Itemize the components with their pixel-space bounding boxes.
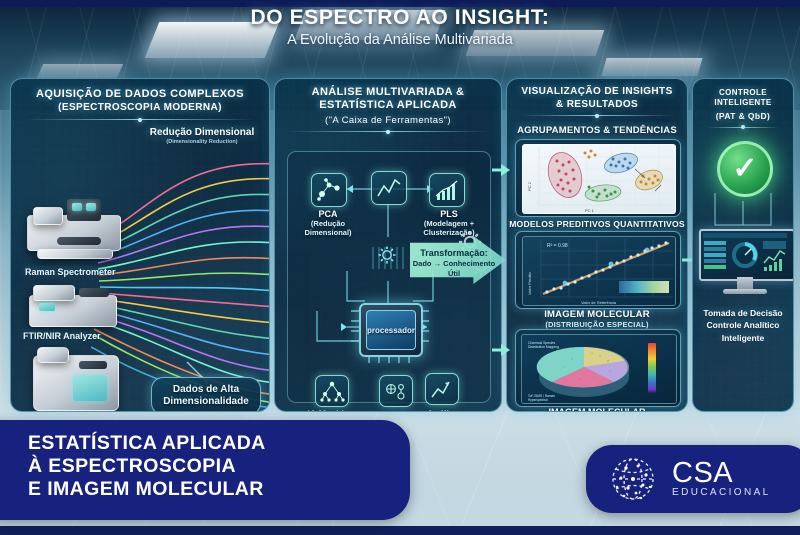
panel-viz-title-1: VISUALIZAÇÃO DE INSIGHTS (521, 86, 672, 97)
tool-sub2-pca: Dimensional) (289, 228, 367, 237)
viz-card-regression[interactable]: R² = 0.98 Valor de Referência Valor Pred… (515, 231, 681, 309)
control-monitor[interactable] (699, 229, 791, 295)
tool-card-ia-ml[interactable] (315, 375, 349, 407)
panel-acquisition-subtitle: (ESPECTROSCOPIA MODERNA) (11, 102, 269, 113)
cluster-xlabel: PC 1 (585, 208, 594, 213)
panel-divider (289, 131, 487, 132)
transform-line2: Dado → Conhecimento Útil (412, 259, 496, 278)
cluster-scatter-plot (523, 145, 675, 213)
bottom-accent-bar (0, 526, 800, 535)
tool-card-spectro[interactable] (425, 373, 459, 405)
viz-footer-caption: IMAGEM MOLECULAR (DISTRIBUIÇÃO ESPECIAL) (507, 407, 687, 412)
annotation-subtitle: (Dimensionality Reduction) (141, 139, 263, 145)
svg-text:Hyperspectral: Hyperspectral (528, 398, 548, 402)
panel-visualization-heading: VISUALIZAÇÃO DE INSIGHTS & RESULTADOS (507, 86, 687, 111)
trend-chart-icon (426, 374, 458, 404)
annotation-dim-reduction: Redução Dimensional (Dimensionality Redu… (141, 127, 263, 145)
neural-tree-icon (316, 376, 348, 406)
control-caption-2: Controle Analítico (693, 319, 793, 331)
viz-card-title-regression: MODELOS PREDITIVOS QUANTITATIVOS (507, 219, 687, 229)
tool-name-pca: PCA (318, 209, 337, 219)
instrument-label-raman: Raman Spectrometer (25, 267, 116, 277)
panel-acquisition-title: AQUISIÇÃO DE DADOS COMPLEXOS (36, 88, 244, 100)
title-block: DO ESPECTRO AO INSIGHT: A Evolução da An… (0, 6, 800, 48)
panel-viz-title-2: & RESULTADOS (556, 99, 638, 110)
panel-analysis-subtitle: ("A Caixa de Ferramentas") (275, 115, 501, 127)
gear-icon (377, 245, 397, 265)
tool-sub1-pls: (Modelagem + (407, 219, 491, 228)
bar-trend-icon (430, 174, 464, 206)
dashboard-graphic (701, 231, 789, 275)
svg-text:R² = 0.98: R² = 0.98 (547, 243, 568, 249)
logo-name: CSA (672, 460, 771, 488)
callout-text: Dados de Alta Dimensionalidade (152, 384, 260, 409)
molecular-heatmap: Chemical Species Distribution Mapping To… (522, 335, 676, 403)
tool-card-molecule[interactable] (379, 375, 413, 407)
tool-card-pls[interactable] (429, 173, 465, 207)
tool-label-ia-ml: IA Machine Learning (293, 409, 369, 412)
viz-card-title-molecular: IMAGEM MOLECULAR (DISTRIBUIÇÃO ESPECIAL) (507, 309, 687, 329)
panel-analysis-title-1: ANÁLISE MULTIVARIADA & (312, 86, 465, 98)
panel-control: CONTROLE INTELIGENTE (PAT & QbD) ✓ (692, 78, 794, 412)
tool-card-pca[interactable] (311, 173, 347, 207)
ribbon-line-1: ESTATÍSTICA APLICADA (28, 432, 398, 455)
brand-logo[interactable]: CSA EDUCACIONAL (586, 445, 800, 513)
panel-divider (521, 115, 673, 116)
scatter-network-icon (312, 174, 346, 206)
line-chart-icon (372, 172, 406, 204)
control-caption: Tomada de Decisão Controle Analítico Int… (693, 307, 793, 344)
panel-divider (25, 119, 255, 120)
logo-subtitle: EDUCACIONAL (672, 487, 771, 498)
tool-name-pls: PLS (440, 209, 458, 219)
panel-divider (707, 127, 779, 128)
panel-acquisition: AQUISIÇÃO DE DADOS COMPLEXOS (ESPECTROSC… (10, 78, 270, 412)
viz-molecular-title: IMAGEM MOLECULAR (544, 309, 650, 320)
instrument-label-ftir: FTIR/NIR Analyzer (23, 331, 101, 341)
viz-card-molecular[interactable]: Chemical Species Distribution Mapping To… (515, 329, 681, 407)
page-title: DO ESPECTRO AO INSIGHT: (0, 6, 800, 30)
infographic-canvas: DO ESPECTRO AO INSIGHT: A Evolução da An… (0, 0, 800, 535)
ribbon-line-2: À ESPECTROSCOPIA (28, 455, 398, 478)
regression-ylabel: Valor Predito (527, 272, 532, 295)
globe-network-icon (608, 454, 658, 504)
panel-acquisition-heading: AQUISIÇÃO DE DADOS COMPLEXOS (ESPECTROSC… (11, 88, 269, 113)
chip-pins (349, 297, 431, 363)
control-caption-3: Inteligente (693, 332, 793, 344)
annotation-title: Redução Dimensional (141, 127, 263, 138)
panel-analysis-heading: ANÁLISE MULTIVARIADA & ESTATÍSTICA APLIC… (275, 86, 501, 126)
ribbon-line-3: E IMAGEM MOLECULAR (28, 478, 398, 501)
viz-footer-title: IMAGEM MOLECULAR (507, 407, 687, 412)
tool-card-linechart[interactable] (371, 171, 407, 205)
panel-control-subtitle: (PAT & QbD) (693, 111, 793, 122)
panel-control-title: CONTROLE INTELIGENTE (714, 88, 771, 107)
viz-card-title-clusters: AGRUPAMENTOS & TENDÊNCIAS (507, 125, 687, 136)
regression-xlabel: Valor de Referência (581, 300, 616, 305)
molecule-icon (380, 376, 412, 406)
transform-arrow-text: Transformação: Dado → Conhecimento Útil (412, 248, 496, 278)
ceiling-light (37, 64, 123, 78)
tool-label-spectro: Análise Espectrômetro (397, 409, 489, 412)
tool-name-ia: IA Machine (307, 409, 354, 412)
tool-sub1-pca: (Redução (289, 219, 367, 228)
svg-text:Distribution Mapping: Distribution Mapping (528, 345, 559, 349)
ceiling-light (601, 58, 702, 76)
control-connectors (707, 187, 779, 233)
callout-high-dimensional-data: Dados de Alta Dimensionalidade (151, 377, 261, 412)
page-subtitle: A Evolução da Análise Multivariada (0, 32, 800, 48)
instrument-tofsims (33, 347, 117, 412)
arrow-to-molecular (490, 330, 512, 370)
regression-scatter-plot: R² = 0.98 (523, 237, 675, 305)
panel-control-heading: CONTROLE INTELIGENTE (PAT & QbD) (693, 88, 793, 122)
footer-ribbon-text: ESTATÍSTICA APLICADA À ESPECTROSCOPIA E … (28, 432, 398, 501)
instrument-raman (27, 197, 119, 259)
tool-label-pca: PCA (Redução Dimensional) (289, 209, 367, 237)
instrument-ftir (29, 285, 115, 327)
tool-name-spectro: Análise (427, 409, 459, 412)
panel-visualization: VISUALIZAÇÃO DE INSIGHTS & RESULTADOS AG… (506, 78, 688, 412)
viz-card-clusters[interactable]: PC 1 PC 2 (515, 139, 681, 217)
viz-molecular-subtitle: (DISTRIBUIÇÃO ESPECIAL) (507, 320, 687, 329)
control-caption-1: Tomada de Decisão (693, 307, 793, 319)
transform-line1: Transformação: (420, 248, 488, 258)
cluster-ylabel: PC 2 (527, 182, 532, 191)
panel-analysis-title-2: ESTATÍSTICA APLICADA (319, 99, 457, 111)
arrow-to-clusters (490, 150, 512, 190)
